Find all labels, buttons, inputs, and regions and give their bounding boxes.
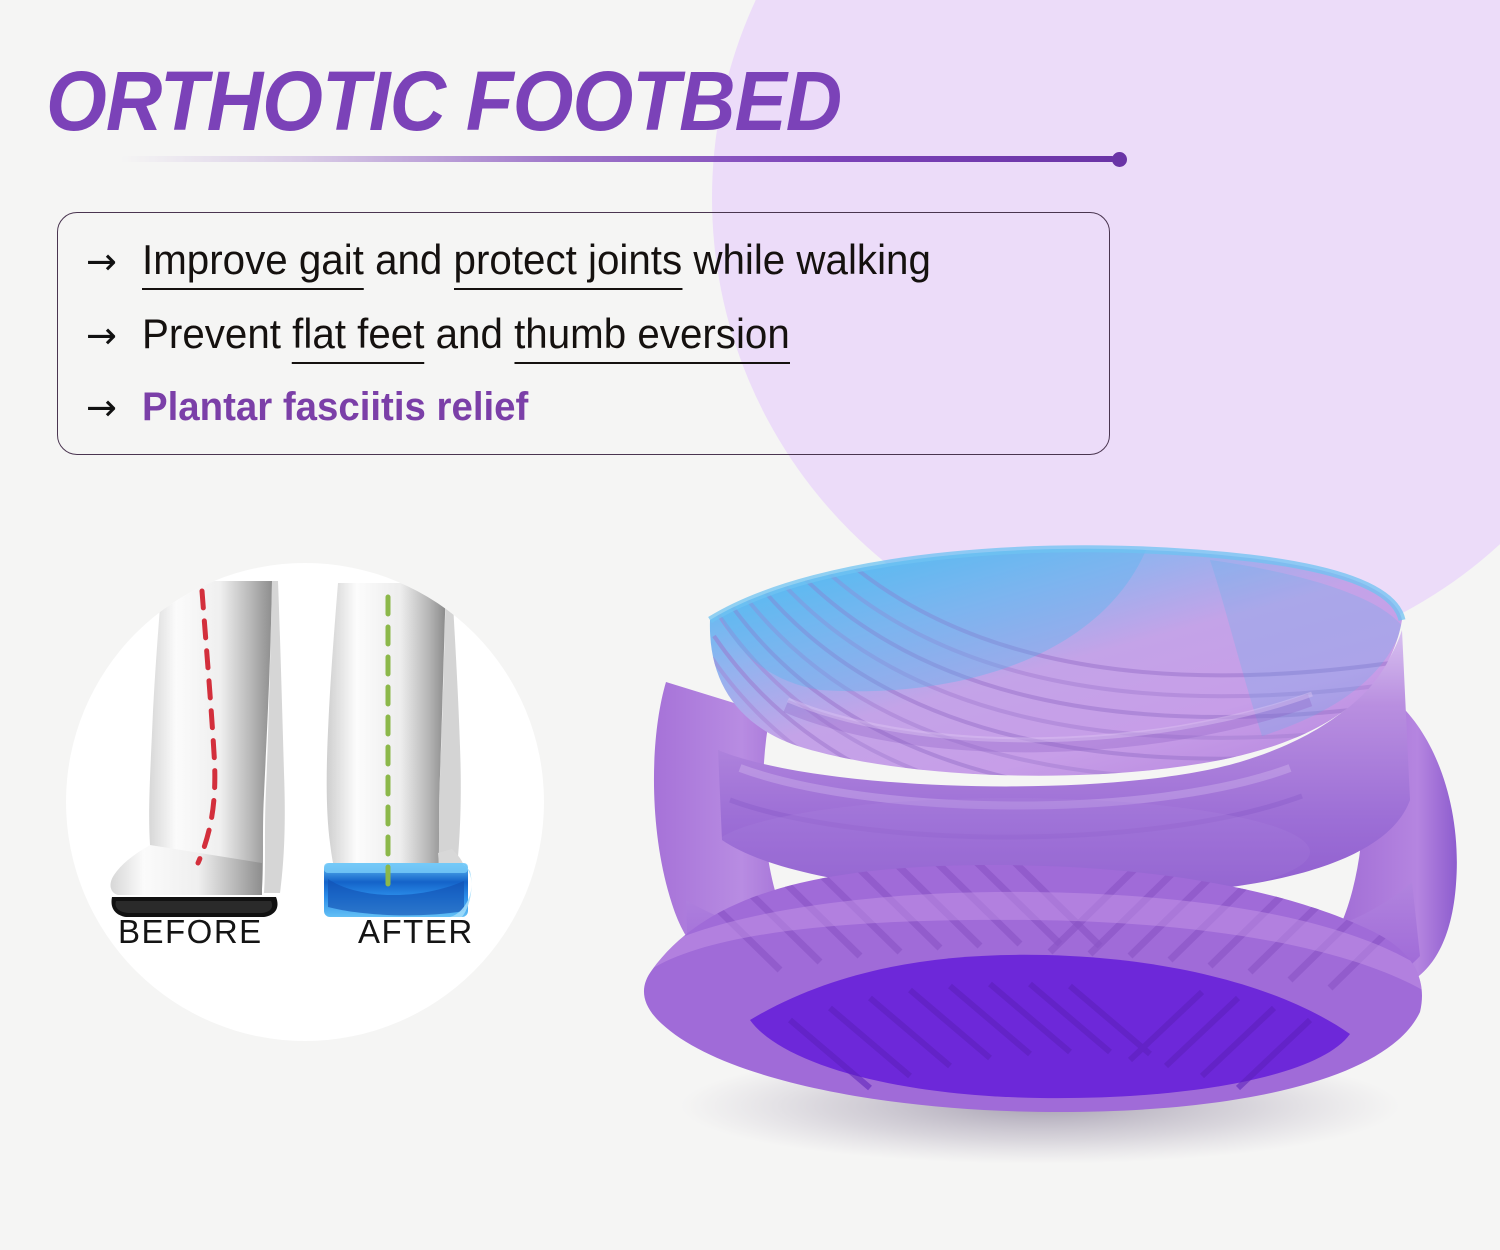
feature-item-improve-gait: → Improve gait and protect joints while …	[58, 239, 1109, 313]
feature-item-label: Plantar fasciitis relief	[142, 387, 528, 427]
feature-list-card: → Improve gait and protect joints while …	[57, 212, 1110, 455]
arrow-icon: →	[86, 389, 142, 426]
arrow-icon: →	[86, 243, 142, 280]
slide-sandal-illustration	[590, 500, 1490, 1200]
before-after-illustration	[66, 563, 544, 1041]
feature-item-label: Prevent flat feet and thumb eversion	[142, 313, 790, 355]
title-divider-dot	[1112, 152, 1127, 167]
feature-item-prevent-flat-feet: → Prevent flat feet and thumb eversion	[58, 313, 1109, 387]
after-foot-illustration	[324, 583, 472, 917]
feature-item-plantar-fasciitis: → Plantar fasciitis relief	[58, 387, 1109, 461]
product-photo	[590, 500, 1490, 1200]
feature-item-label: Improve gait and protect joints while wa…	[142, 239, 931, 281]
arrow-icon: →	[86, 317, 142, 354]
poster-canvas: ORTHOTIC FOOTBED → Improve gait and prot…	[0, 0, 1500, 1250]
title-divider-line	[120, 156, 1115, 162]
title-divider	[120, 152, 1125, 166]
before-label: BEFORE	[118, 913, 263, 951]
after-label: AFTER	[358, 913, 474, 951]
before-foot-illustration	[111, 581, 285, 917]
page-title: ORTHOTIC FOOTBED	[46, 56, 841, 146]
before-after-comparison: BEFORE AFTER	[66, 563, 544, 1041]
